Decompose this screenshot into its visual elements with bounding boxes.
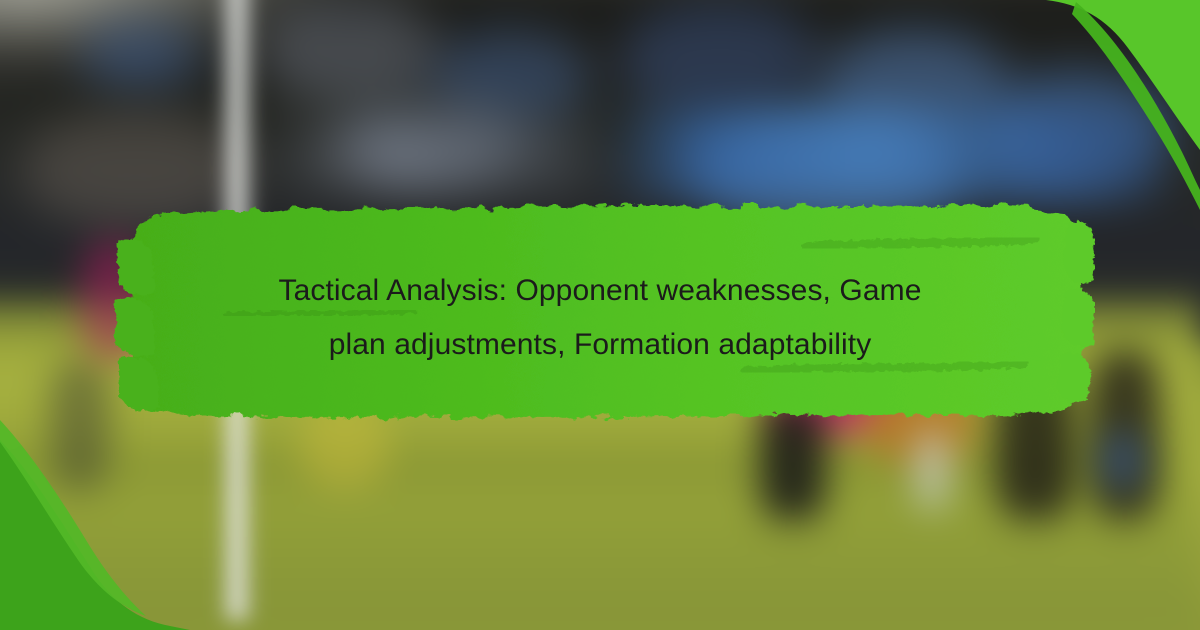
- crowd-blob: [80, 20, 200, 90]
- title-line-2: plan adjustments, Formation adaptability: [329, 318, 872, 372]
- crowd-blob: [620, 0, 820, 120]
- corner-swoosh-top-right: [1010, 0, 1200, 210]
- advertising-board: [260, 120, 590, 190]
- banner-canvas: Tactical Analysis: Opponent weaknesses, …: [0, 0, 1200, 630]
- page-title: Tactical Analysis: Opponent weaknesses, …: [105, 195, 1095, 435]
- title-line-1: Tactical Analysis: Opponent weaknesses, …: [278, 264, 921, 318]
- headline-highlight-group: Tactical Analysis: Opponent weaknesses, …: [105, 195, 1095, 435]
- crowd-blob: [260, 0, 440, 105]
- corner-swoosh-bottom-left: [0, 420, 190, 630]
- player-silhouette: [1100, 430, 1144, 490]
- player-silhouette: [915, 430, 949, 510]
